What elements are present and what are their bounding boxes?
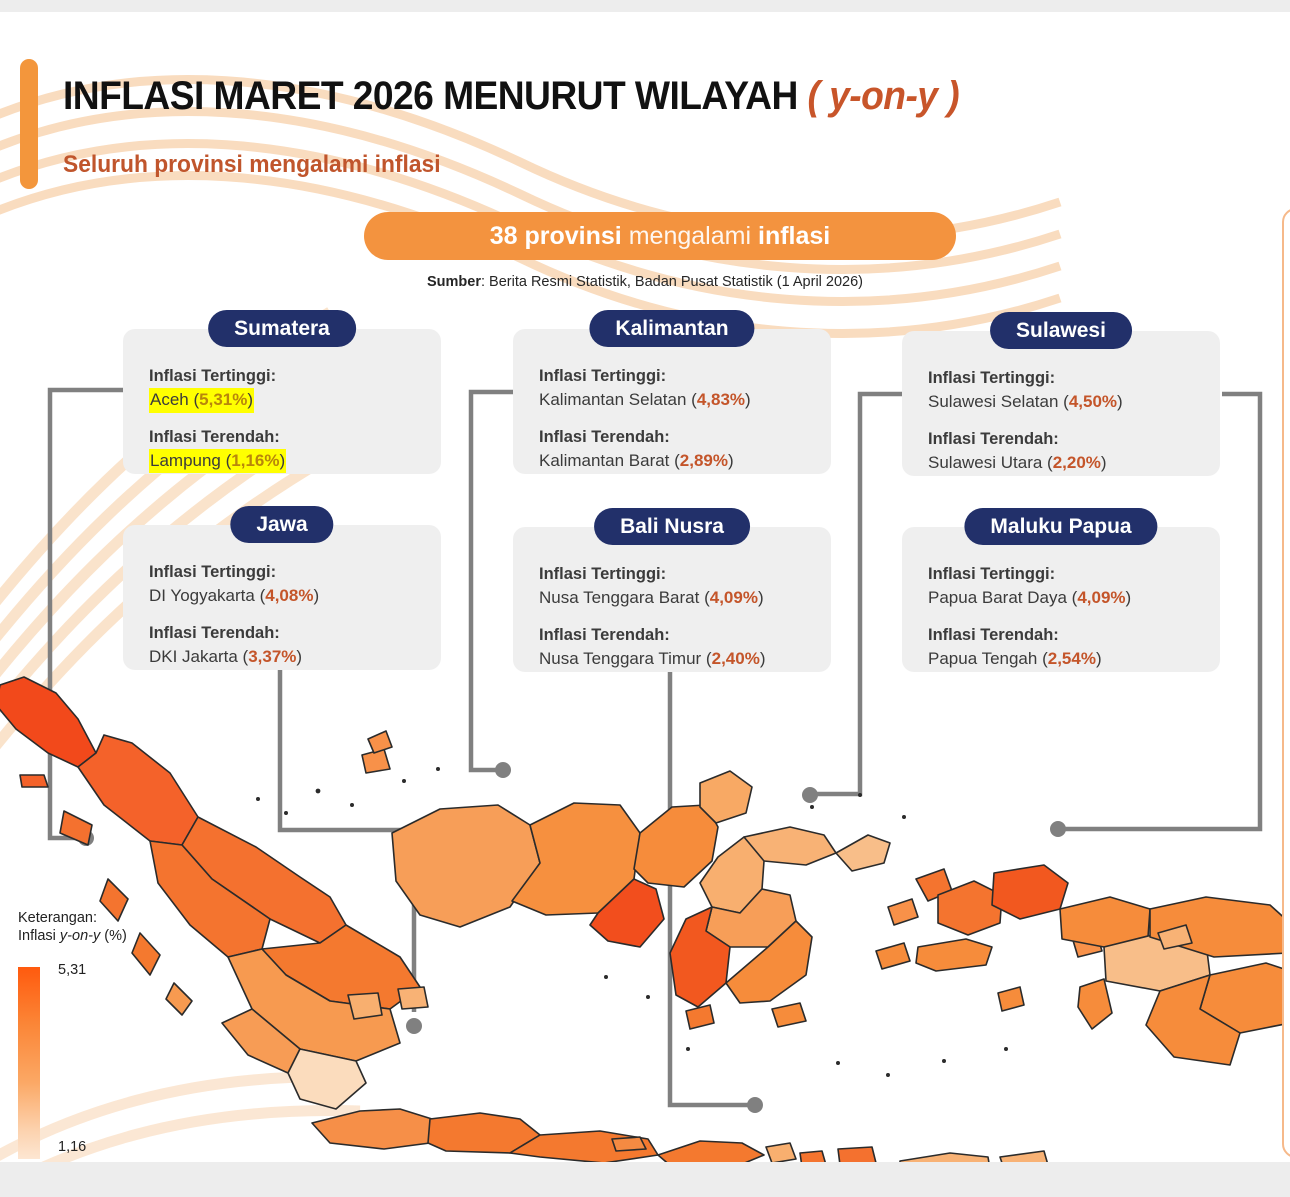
province-ntb [838,1147,876,1162]
island-natuna [368,731,392,753]
value-highest-bali-nusra: Nusa Tenggara Barat (4,09%) [539,588,764,607]
value-highest-sumatera: Aceh (5,31%) [149,388,254,412]
legend-gradient-bar [18,967,40,1159]
province-bali [800,1151,826,1162]
card-title-bali-nusra: Bali Nusra [594,508,750,545]
infographic-root: INFLASI MARET 2026 MENURUT WILAYAH ( y-o… [0,0,1290,1197]
legend-title-colon: : [93,910,97,926]
card-bali-nusra[interactable]: Bali Nusra Inflasi Tertinggi: Nusa Tengg… [513,527,831,672]
label-lowest-kalimantan: Inflasi Terendah: [539,426,831,449]
province-kalbar [392,805,540,927]
legend-title-text: Keterangan [18,910,93,926]
legend-sub-yoy: y-on-y [60,928,100,944]
card-title-sulawesi: Sulawesi [990,312,1132,349]
value-highest-jawa: DI Yogyakarta (4,08%) [149,586,319,605]
province-sulut [836,835,890,871]
value-lowest-sumatera: Lampung (1,16%) [149,449,286,473]
legend-sub-b: (%) [100,928,127,944]
province-diy [612,1137,646,1151]
indonesia-choropleth-map [0,657,1290,1162]
value-highest-kalimantan: Kalimantan Selatan (4,83%) [539,390,751,409]
value-lowest-kalimantan: Kalimantan Barat (2,89%) [539,451,734,470]
province-papua-barat-daya [992,865,1068,919]
right-edge-panel [1282,208,1290,1158]
province-jatim [658,1141,764,1162]
legend-max-value: 5,31 [58,962,86,978]
card-jawa[interactable]: Jawa Inflasi Tertinggi: DI Yogyakarta (4… [123,525,441,670]
island-mentawai-s [132,933,160,975]
value-lowest-bali-nusra: Nusa Tenggara Timur (2,40%) [539,649,765,668]
island-buton [772,1003,806,1027]
province-sumut [78,735,198,845]
province-banten [312,1109,432,1149]
island-seram [916,939,992,971]
label-highest-maluku-papua: Inflasi Tertinggi: [928,563,1220,586]
card-body-jawa: Inflasi Tertinggi: DI Yogyakarta (4,08%)… [123,525,441,685]
card-body-sumatera: Inflasi Tertinggi: Aceh (5,31%) Inflasi … [123,329,441,489]
slide-canvas: INFLASI MARET 2026 MENURUT WILAYAH ( y-o… [0,12,1290,1162]
province-bangka [348,993,382,1019]
card-maluku-papua[interactable]: Maluku Papua Inflasi Tertinggi: Papua Ba… [902,527,1220,672]
card-body-kalimantan: Inflasi Tertinggi: Kalimantan Selatan (4… [513,329,831,489]
province-sulbar-s [686,1005,714,1029]
card-sulawesi[interactable]: Sulawesi Inflasi Tertinggi: Sulawesi Sel… [902,331,1220,476]
card-body-sulawesi: Inflasi Tertinggi: Sulawesi Selatan (4,5… [902,331,1220,491]
value-lowest-sulawesi: Sulawesi Utara (2,20%) [928,453,1107,472]
card-title-sumatera: Sumatera [208,310,356,347]
value-highest-sulawesi: Sulawesi Selatan (4,50%) [928,392,1123,411]
value-lowest-maluku-papua: Papua Tengah (2,54%) [928,649,1102,668]
label-highest-kalimantan: Inflasi Tertinggi: [539,365,831,388]
label-lowest-bali-nusra: Inflasi Terendah: [539,624,831,647]
label-lowest-sulawesi: Inflasi Terendah: [928,428,1220,451]
value-highest-maluku-papua: Papua Barat Daya (4,09%) [928,588,1131,607]
card-title-kalimantan: Kalimantan [589,310,754,347]
label-highest-sumatera: Inflasi Tertinggi: [149,365,441,388]
label-lowest-jawa: Inflasi Terendah: [149,622,441,645]
province-aceh [0,677,96,767]
province-ntt-w [900,1153,990,1162]
island-aru [1078,979,1112,1029]
card-body-maluku-papua: Inflasi Tertinggi: Papua Barat Daya (4,0… [902,527,1220,687]
island-madura [766,1143,796,1162]
label-lowest-sumatera: Inflasi Terendah: [149,426,441,449]
province-ntt-e [1000,1151,1048,1162]
island-simeulue [20,775,48,787]
island-enggano [166,983,192,1015]
label-highest-bali-nusra: Inflasi Tertinggi: [539,563,831,586]
value-lowest-jawa: DKI Jakarta (3,37%) [149,647,302,666]
province-kaltara [700,771,752,823]
label-highest-sulawesi: Inflasi Tertinggi: [928,367,1220,390]
island-ternate [888,899,918,925]
island-nias [60,811,92,845]
card-title-jawa: Jawa [230,506,333,543]
card-body-bali-nusra: Inflasi Tertinggi: Nusa Tenggara Barat (… [513,527,831,687]
card-sumatera[interactable]: Sumatera Inflasi Tertinggi: Aceh (5,31%)… [123,329,441,474]
legend-sub-a: Inflasi [18,928,60,944]
card-title-maluku-papua: Maluku Papua [964,508,1157,545]
island-buru [876,943,910,969]
label-lowest-maluku-papua: Inflasi Terendah: [928,624,1220,647]
label-highest-jawa: Inflasi Tertinggi: [149,561,441,584]
island-tanimbar [998,987,1024,1011]
card-kalimantan[interactable]: Kalimantan Inflasi Tertinggi: Kalimantan… [513,329,831,474]
legend-subtitle: Inflasi y-on-y (%) [18,928,127,944]
legend-min-value: 1,16 [58,1139,86,1155]
legend-title: Keterangan: [18,910,127,926]
island-belitung [398,987,428,1009]
legend: Keterangan: Inflasi y-on-y (%) [18,910,127,944]
